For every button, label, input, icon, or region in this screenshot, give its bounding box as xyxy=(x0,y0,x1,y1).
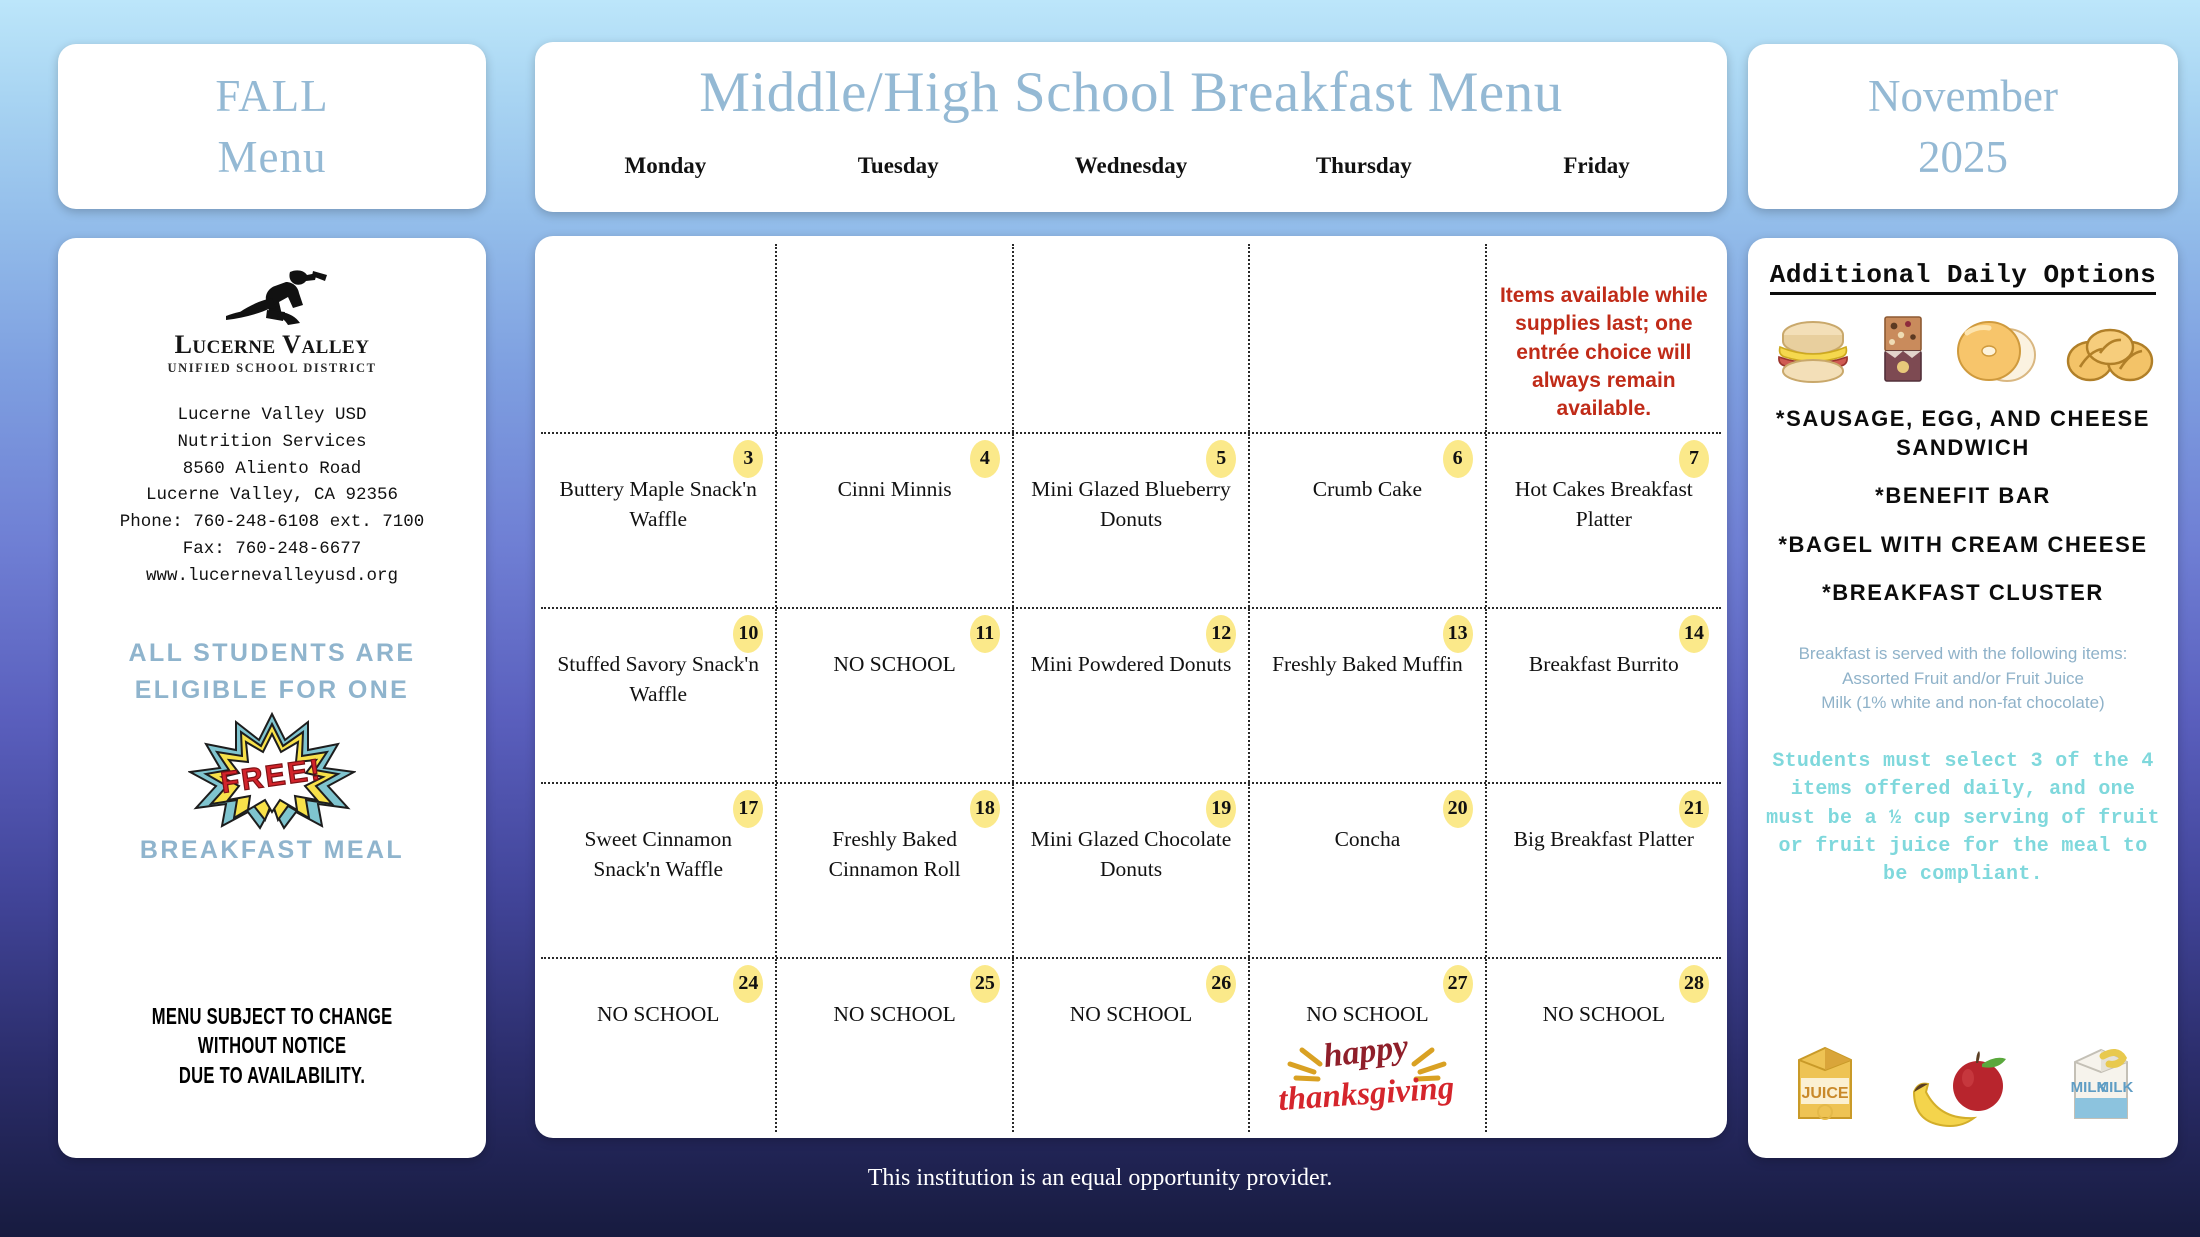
page-title: Middle/High School Breakfast Menu xyxy=(699,60,1562,125)
calendar-week-2: 10 Stuffed Savory Snack'n Waffle 11 NO S… xyxy=(541,607,1721,782)
contact-website[interactable]: www.lucernevalleyusd.org xyxy=(120,563,425,590)
menu-item: Freshly Baked Cinnamon Roll xyxy=(787,824,1001,885)
calendar-card: Items available while supplies last; one… xyxy=(535,236,1727,1138)
contact-line-2: 8560 Aliento Road xyxy=(120,456,425,483)
calendar-cell[interactable] xyxy=(541,244,775,432)
running-graduate-icon xyxy=(212,266,332,330)
calendar-cell[interactable]: 6 Crumb Cake xyxy=(1248,434,1484,607)
fruit-icon xyxy=(1904,1050,2022,1130)
bagel-icon xyxy=(1949,319,2043,385)
calendar-week-1: 3 Buttery Maple Snack'n Waffle 4 Cinni M… xyxy=(541,432,1721,607)
menu-item: Mini Glazed Blueberry Donuts xyxy=(1024,474,1238,535)
eligibility-line-1: ALL STUDENTS ARE xyxy=(128,635,415,671)
calendar-cell[interactable]: 21 Big Breakfast Platter xyxy=(1485,784,1721,957)
daily-option-0: *SAUSAGE, EGG, AND CHEESE SANDWICH xyxy=(1762,405,2164,462)
weekday-tuesday: Tuesday xyxy=(782,153,1015,179)
date-badge: 10 xyxy=(733,615,763,653)
food-icon-row xyxy=(1762,313,2164,385)
weekday-header-row: Monday Tuesday Wednesday Thursday Friday xyxy=(535,153,1727,179)
weekday-wednesday: Wednesday xyxy=(1015,153,1248,179)
eligibility-notice: ALL STUDENTS ARE ELIGIBLE FOR ONE FREE! … xyxy=(128,635,415,868)
date-badge: 24 xyxy=(733,965,763,1003)
menu-item: NO SCHOOL xyxy=(1070,999,1192,1030)
district-info-card: LUCERNE VALLEY UNIFIED SCHOOL DISTRICT L… xyxy=(58,238,486,1158)
beverage-icon-row: JUICE MILK MILK xyxy=(1762,1038,2164,1130)
calendar-cell[interactable]: 18 Freshly Baked Cinnamon Roll xyxy=(775,784,1011,957)
weekday-friday: Friday xyxy=(1480,153,1713,179)
month-name: November xyxy=(1868,66,2058,127)
equal-opportunity-footer: This institution is an equal opportunity… xyxy=(0,1165,2200,1192)
calendar-cell[interactable]: 12 Mini Powdered Donuts xyxy=(1012,609,1248,782)
juice-label: JUICE xyxy=(1801,1085,1848,1102)
calendar-cell[interactable]: 13 Freshly Baked Muffin xyxy=(1248,609,1484,782)
month-year: 2025 xyxy=(1918,127,2008,188)
menu-item: NO SCHOOL xyxy=(1543,999,1665,1030)
calendar-cell[interactable]: 10 Stuffed Savory Snack'n Waffle xyxy=(541,609,775,782)
calendar-week-3: 17 Sweet Cinnamon Snack'n Waffle 18 Fres… xyxy=(541,782,1721,957)
calendar-cell[interactable]: 27 NO SCHOOL happy thanksgiving xyxy=(1248,959,1484,1132)
compliance-note: Students must select 3 of the 4 items of… xyxy=(1762,748,2164,890)
season-line-1: FALL xyxy=(215,66,328,127)
weekday-monday: Monday xyxy=(549,153,782,179)
menu-title-card: Middle/High School Breakfast Menu Monday… xyxy=(535,42,1727,212)
daily-options-title: Additional Daily Options xyxy=(1770,260,2156,295)
calendar-cell[interactable]: 24 NO SCHOOL xyxy=(541,959,775,1132)
date-badge: 27 xyxy=(1443,965,1473,1003)
juice-carton-icon: JUICE xyxy=(1779,1038,1871,1130)
menu-item: NO SCHOOL xyxy=(833,649,955,680)
contact-line-3: Lucerne Valley, CA 92356 xyxy=(120,482,425,509)
date-badge: 28 xyxy=(1679,965,1709,1003)
menu-change-disclaimer: MENU SUBJECT TO CHANGE WITHOUT NOTICE DU… xyxy=(152,1002,393,1090)
calendar-grid: Items available while supplies last; one… xyxy=(541,244,1721,1132)
calendar-cell[interactable]: 5 Mini Glazed Blueberry Donuts xyxy=(1012,434,1248,607)
calendar-cell[interactable]: 14 Breakfast Burrito xyxy=(1485,609,1721,782)
date-badge: 11 xyxy=(970,615,1000,653)
date-badge: 7 xyxy=(1679,440,1709,478)
district-logo-subtitle: UNIFIED SCHOOL DISTRICT xyxy=(167,361,377,376)
calendar-cell[interactable]: 26 NO SCHOOL xyxy=(1012,959,1248,1132)
menu-item: Concha xyxy=(1335,824,1401,855)
calendar-cell[interactable] xyxy=(1012,244,1248,432)
date-badge: 12 xyxy=(1206,615,1236,653)
date-badge: 26 xyxy=(1206,965,1236,1003)
district-logo-name: LUCERNE VALLEY xyxy=(167,332,377,358)
menu-item: Cinni Minnis xyxy=(838,474,952,505)
date-badge: 14 xyxy=(1679,615,1709,653)
calendar-cell[interactable] xyxy=(1248,244,1484,432)
calendar-cell[interactable]: 17 Sweet Cinnamon Snack'n Waffle xyxy=(541,784,775,957)
date-badge: 17 xyxy=(733,790,763,828)
daily-option-3: *BREAKFAST CLUSTER xyxy=(1822,579,2104,608)
district-logo: LUCERNE VALLEY UNIFIED SCHOOL DISTRICT xyxy=(167,266,377,376)
menu-page: FALL Menu LUCERNE VALLEY UNIFIED SCHOOL … xyxy=(0,0,2200,1237)
season-card: FALL Menu xyxy=(58,44,486,209)
date-badge: 18 xyxy=(970,790,1000,828)
menu-item: Mini Powdered Donuts xyxy=(1031,649,1232,680)
menu-item: Stuffed Savory Snack'n Waffle xyxy=(551,649,765,710)
contact-line-4: Phone: 760-248-6108 ext. 7100 xyxy=(120,509,425,536)
svg-text:happy: happy xyxy=(1322,1028,1412,1075)
served-line-0: Breakfast is served with the following i… xyxy=(1799,642,2128,667)
contact-line-0: Lucerne Valley USD xyxy=(120,402,425,429)
date-badge: 6 xyxy=(1443,440,1473,478)
contact-line-1: Nutrition Services xyxy=(120,429,425,456)
calendar-cell[interactable]: 28 NO SCHOOL xyxy=(1485,959,1721,1132)
daily-option-2: *BAGEL WITH CREAM CHEESE xyxy=(1778,531,2147,560)
milk-carton-icon: MILK MILK xyxy=(2055,1038,2147,1130)
menu-item: Big Breakfast Platter xyxy=(1514,824,1694,855)
disclaimer-line-2: DUE TO AVAILABILITY. xyxy=(152,1061,393,1090)
calendar-cell[interactable]: 3 Buttery Maple Snack'n Waffle xyxy=(541,434,775,607)
disclaimer-line-0: MENU SUBJECT TO CHANGE xyxy=(152,1002,393,1031)
season-line-2: Menu xyxy=(218,127,327,188)
calendar-cell-availability-notice[interactable]: Items available while supplies last; one… xyxy=(1485,244,1721,432)
bread-rolls-icon xyxy=(2064,327,2156,385)
date-badge: 25 xyxy=(970,965,1000,1003)
daily-option-1: *BENEFIT BAR xyxy=(1875,482,2051,511)
milk-label-2: MILK xyxy=(2097,1079,2134,1096)
calendar-cell[interactable]: 20 Concha xyxy=(1248,784,1484,957)
served-with-note: Breakfast is served with the following i… xyxy=(1799,642,2128,716)
calendar-cell[interactable] xyxy=(775,244,1011,432)
calendar-cell[interactable]: 19 Mini Glazed Chocolate Donuts xyxy=(1012,784,1248,957)
date-badge: 21 xyxy=(1679,790,1709,828)
date-badge: 3 xyxy=(733,440,763,478)
calendar-week-4: 24 NO SCHOOL 25 NO SCHOOL 26 NO SCHOOL 2… xyxy=(541,957,1721,1132)
daily-options-card: Additional Daily Options xyxy=(1748,238,2178,1158)
calendar-cell[interactable]: 25 NO SCHOOL xyxy=(775,959,1011,1132)
disclaimer-line-1: WITHOUT NOTICE xyxy=(152,1031,393,1060)
district-contact: Lucerne Valley USD Nutrition Services 85… xyxy=(120,402,425,589)
date-badge: 13 xyxy=(1443,615,1473,653)
served-line-2: Milk (1% white and non-fat chocolate) xyxy=(1799,691,2128,716)
calendar-cell[interactable]: 11 NO SCHOOL xyxy=(775,609,1011,782)
breakfast-sandwich-icon xyxy=(1770,319,1856,385)
date-badge: 5 xyxy=(1206,440,1236,478)
eligibility-line-3: BREAKFAST MEAL xyxy=(128,832,415,868)
calendar-cell[interactable]: 7 Hot Cakes Breakfast Platter xyxy=(1485,434,1721,607)
calendar-week-0: Items available while supplies last; one… xyxy=(541,244,1721,432)
contact-line-5: Fax: 760-248-6677 xyxy=(120,536,425,563)
weekday-thursday: Thursday xyxy=(1247,153,1480,179)
menu-item: Freshly Baked Muffin xyxy=(1272,649,1463,680)
free-starburst-icon: FREE! xyxy=(188,710,356,830)
availability-notice-text: Items available while supplies last; one… xyxy=(1499,282,1709,424)
menu-item: Crumb Cake xyxy=(1313,474,1422,505)
menu-item: Sweet Cinnamon Snack'n Waffle xyxy=(551,824,765,885)
menu-item: NO SCHOOL xyxy=(597,999,719,1030)
date-badge: 19 xyxy=(1206,790,1236,828)
served-line-1: Assorted Fruit and/or Fruit Juice xyxy=(1799,667,2128,692)
eligibility-line-2: ELIGIBLE FOR ONE xyxy=(128,672,415,708)
calendar-cell[interactable]: 4 Cinni Minnis xyxy=(775,434,1011,607)
menu-item: Mini Glazed Chocolate Donuts xyxy=(1024,824,1238,885)
date-badge: 4 xyxy=(970,440,1000,478)
month-card: November 2025 xyxy=(1748,44,2178,209)
menu-item: Hot Cakes Breakfast Platter xyxy=(1497,474,1711,535)
menu-item: Buttery Maple Snack'n Waffle xyxy=(551,474,765,535)
menu-item: Breakfast Burrito xyxy=(1529,649,1679,680)
granola-bar-icon xyxy=(1877,313,1929,385)
date-badge: 20 xyxy=(1443,790,1473,828)
happy-thanksgiving-icon: happy thanksgiving xyxy=(1272,1016,1462,1126)
menu-item: NO SCHOOL xyxy=(833,999,955,1030)
